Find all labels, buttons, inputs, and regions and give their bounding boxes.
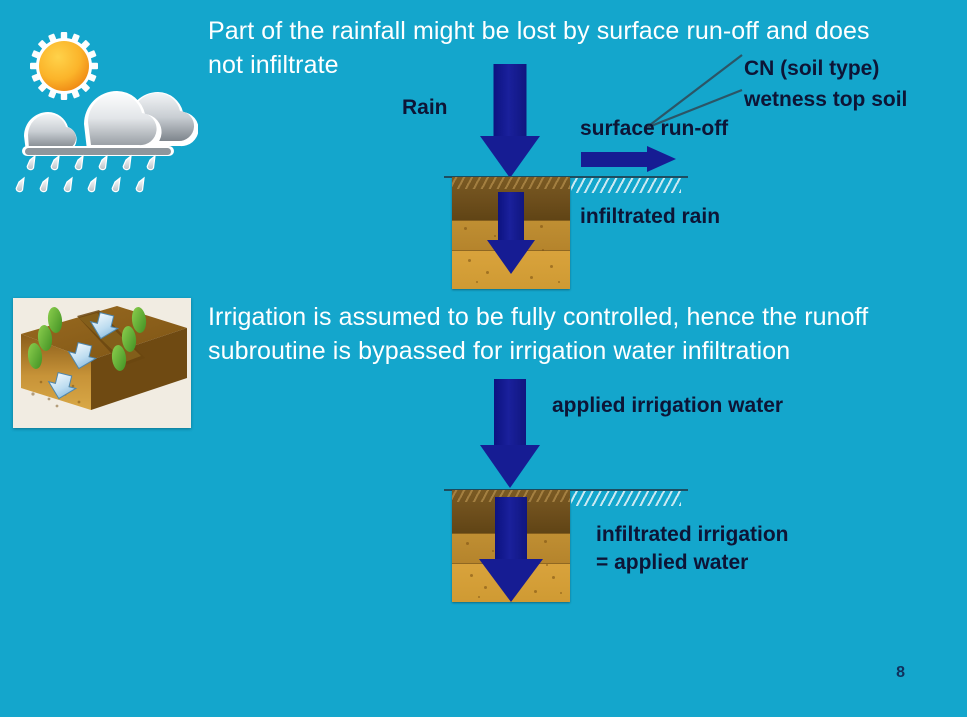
applied-irrigation-arrow-down-icon bbox=[470, 379, 550, 489]
ground-hatching bbox=[571, 178, 681, 193]
ground-hatching bbox=[571, 491, 681, 506]
infiltrated-irrigation-arrow-down-icon bbox=[468, 497, 554, 602]
rain-label: Rain bbox=[402, 94, 448, 122]
arrow-shaft bbox=[494, 64, 527, 136]
irrigation-heading: Irrigation is assumed to be fully contro… bbox=[208, 300, 938, 368]
slide-canvas: Part of the rainfall might be lost by su… bbox=[0, 0, 967, 717]
arrow-head bbox=[480, 445, 540, 488]
applied-irrigation-water-label: applied irrigation water bbox=[552, 392, 783, 420]
infiltrated-rain-label: infiltrated rain bbox=[580, 203, 720, 231]
page-number: 8 bbox=[896, 664, 905, 682]
rain-arrow-down-icon bbox=[470, 64, 550, 178]
arrow-head bbox=[480, 136, 540, 178]
arrow-shaft bbox=[495, 497, 527, 559]
irrigated-furrow-field-icon bbox=[13, 298, 191, 428]
arrow-shaft bbox=[581, 152, 649, 167]
cn-soil-type-label: CN (soil type) bbox=[744, 55, 879, 83]
surface-runoff-arrow-right-icon bbox=[581, 146, 676, 172]
infiltrated-irrigation-label: infiltrated irrigation = applied water bbox=[596, 521, 789, 577]
arrow-head bbox=[479, 559, 543, 602]
arrow-shaft bbox=[494, 379, 526, 445]
surface-runoff-label: surface run-off bbox=[580, 115, 728, 143]
arrow-head bbox=[647, 146, 676, 172]
infiltrated-rain-arrow-down-icon bbox=[475, 192, 547, 274]
wetness-top-soil-label: wetness top soil bbox=[744, 86, 907, 114]
arrow-shaft bbox=[498, 192, 524, 240]
arrow-head bbox=[487, 240, 535, 274]
sun-behind-rain-cloud-icon bbox=[8, 18, 198, 196]
